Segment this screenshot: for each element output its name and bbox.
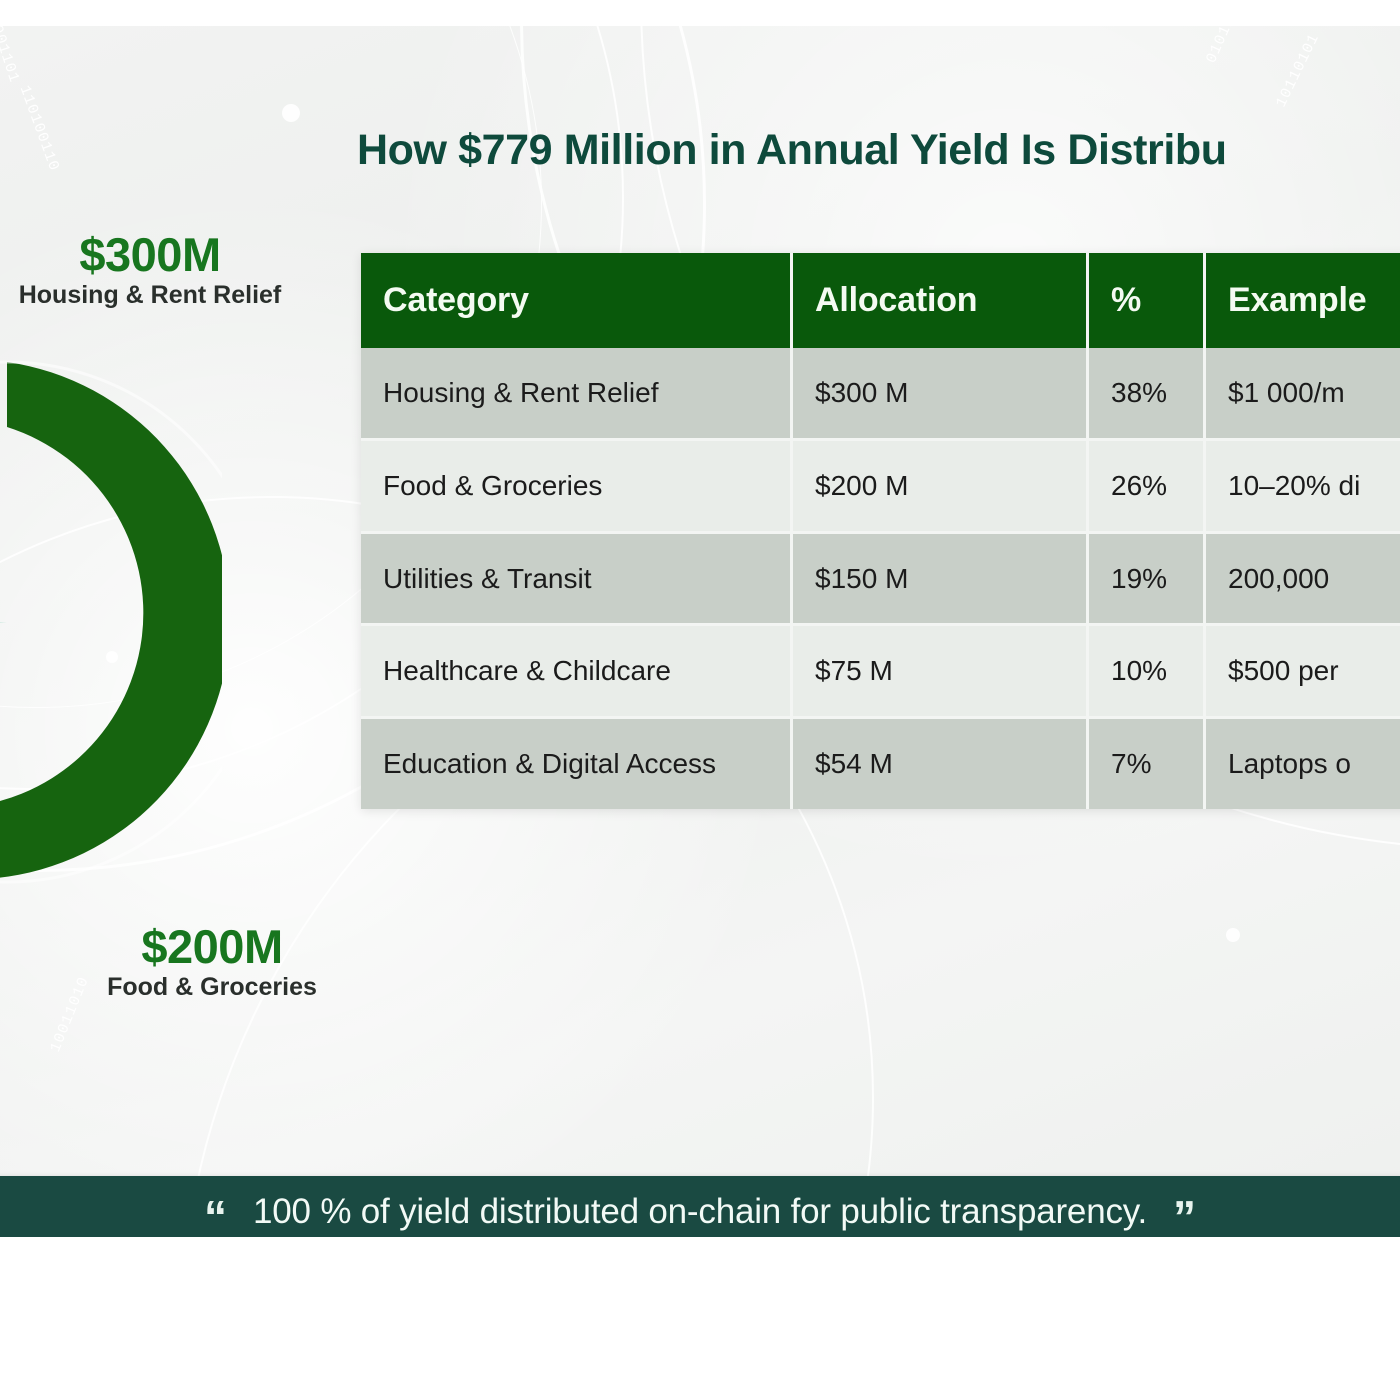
allocation-table: Category Allocation % Example Housing & … [361,253,1400,809]
donut-segment-food [0,555,7,667]
page-title: How $779 Million in Annual Yield Is Dist… [357,126,1400,175]
cell-category: Utilities & Transit [361,534,793,627]
donut-svg [0,322,222,922]
donut-segment-housing [0,362,222,879]
donut-callout-housing: $300M Housing & Rent Relief [0,230,330,310]
column-header-category[interactable]: Category [361,253,793,348]
cell-example: $500 per [1206,626,1400,719]
cell-example: $1 000/m [1206,348,1400,441]
binary-texture: 0101100 [1203,26,1247,66]
callout-category: Housing & Rent Relief [0,281,330,310]
binary-texture: 01001101 [0,26,22,85]
table-row: Healthcare & Childcare $75 M 10% $500 pe… [361,626,1400,719]
cell-percent: 7% [1089,719,1206,809]
callout-amount: $200M [42,922,382,971]
cell-category: Healthcare & Childcare [361,626,793,719]
cell-allocation: $54 M [793,719,1089,809]
table-row: Food & Groceries $200 M 26% 10–20% di [361,441,1400,534]
close-quote-icon: ” [1173,1204,1196,1232]
infographic-slide: 01001101 110100110 10011010 0101100 1011… [0,0,1400,1400]
cell-allocation: $200 M [793,441,1089,534]
transparency-banner: “ 100 % of yield distributed on-chain fo… [0,1176,1400,1237]
callout-amount: $300M [0,230,330,279]
cell-percent: 10% [1089,626,1206,719]
donut-callout-food: $200M Food & Groceries [42,922,382,1002]
column-header-example[interactable]: Example [1206,253,1400,348]
binary-texture: 110100110 [16,83,63,173]
column-header-allocation[interactable]: Allocation [793,253,1089,348]
background-dot [1226,928,1240,942]
cell-category: Food & Groceries [361,441,793,534]
cell-allocation: $75 M [793,626,1089,719]
cell-percent: 38% [1089,348,1206,441]
cell-example: 10–20% di [1206,441,1400,534]
cell-percent: 19% [1089,534,1206,627]
table-header-row: Category Allocation % Example [361,253,1400,348]
table-row: Utilities & Transit $150 M 19% 200,000 [361,534,1400,627]
table-row: Education & Digital Access $54 M 7% Lapt… [361,719,1400,809]
cell-allocation: $150 M [793,534,1089,627]
cell-example: 200,000 [1206,534,1400,627]
letterbox-top [0,0,1400,26]
cell-category: Education & Digital Access [361,719,793,809]
cell-category: Housing & Rent Relief [361,348,793,441]
column-header-percent[interactable]: % [1089,253,1206,348]
slide-canvas: 01001101 110100110 10011010 0101100 1011… [0,26,1400,1237]
background-dot [282,104,300,122]
cell-example: Laptops o [1206,719,1400,809]
donut-chart: 38% M [0,322,222,922]
open-quote-icon: “ [204,1204,227,1232]
table-row: Housing & Rent Relief $300 M 38% $1 000/… [361,348,1400,441]
letterbox-bottom [0,1237,1400,1400]
binary-texture: 10110101 [1273,31,1323,110]
cell-percent: 26% [1089,441,1206,534]
cell-allocation: $300 M [793,348,1089,441]
callout-category: Food & Groceries [42,973,382,1002]
banner-text: 100 % of yield distributed on-chain for … [253,1192,1147,1232]
